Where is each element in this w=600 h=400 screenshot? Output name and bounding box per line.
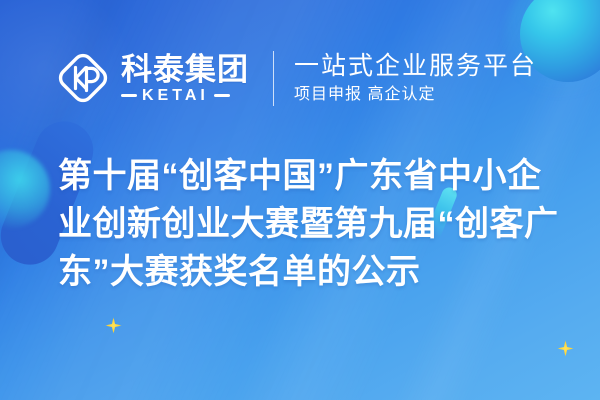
sparkle-right-icon <box>557 340 574 357</box>
logo-rule-left-icon <box>121 94 137 97</box>
ketai-kp-monogram-icon <box>55 50 111 106</box>
cyan-glow-blob-left <box>0 150 50 228</box>
promo-banner: 科泰集团 KETAI 一站式企业服务平台 项目申报 高企认定 第十届“创客中国”… <box>0 0 600 400</box>
page-title: 第十届“创客中国”广东省中小企 业创新创业大赛暨第九届“创客广 东”大赛获奖名单… <box>58 152 568 296</box>
logo-company-name-cn: 科泰集团 <box>121 53 249 86</box>
page-title-line-1: 第十届“创客中国”广东省中小企 <box>58 152 568 200</box>
banner-header: 科泰集团 KETAI 一站式企业服务平台 项目申报 高企认定 <box>0 40 600 116</box>
header-slogan: 一站式企业服务平台 项目申报 高企认定 <box>294 51 600 106</box>
sparkle-left-icon <box>105 317 122 334</box>
logo-rule-right-icon <box>214 94 230 97</box>
slogan-sub-text: 项目申报 高企认定 <box>294 84 600 106</box>
slogan-main-text: 一站式企业服务平台 <box>294 51 600 81</box>
page-title-line-3: 东”大赛获奖名单的公示 <box>58 248 568 296</box>
header-divider <box>273 51 274 106</box>
page-title-line-2: 业创新创业大赛暨第九届“创客广 <box>58 200 568 248</box>
logo-company-name-en: KETAI <box>142 88 209 104</box>
logo-company-name-en-row: KETAI <box>121 88 249 104</box>
logo-wordmark: 科泰集团 KETAI <box>121 53 249 104</box>
